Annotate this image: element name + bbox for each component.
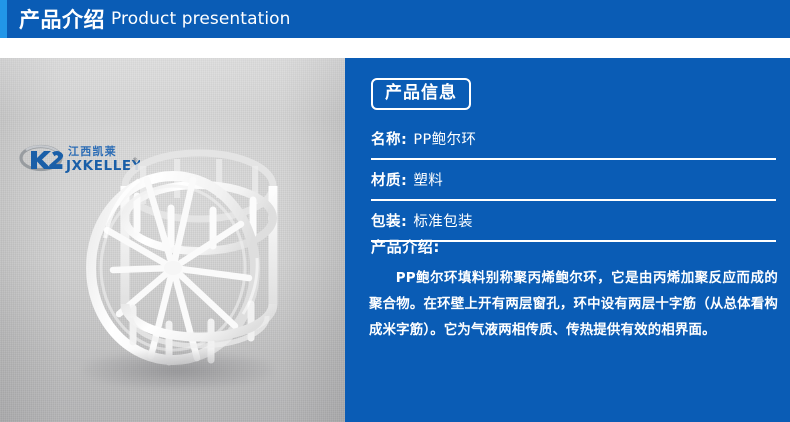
description-heading: 产品介绍: xyxy=(371,236,440,257)
section-header-title: 产品介绍 Product presentation xyxy=(19,0,291,38)
spec-row-name: 名称: PP鲍尔环 xyxy=(371,119,776,160)
section-header-bar: 产品介绍 Product presentation xyxy=(0,0,790,38)
spec-label-packaging: 包装: xyxy=(371,210,407,231)
spec-label-material: 材质: xyxy=(371,169,407,190)
section-title-en: Product presentation xyxy=(111,9,291,29)
spec-row-material: 材质: 塑料 xyxy=(371,160,776,201)
content-area: 江西凯莱 JXKELLEY ® xyxy=(0,58,790,422)
product-info-badge: 产品信息 xyxy=(371,78,471,110)
product-info-panel: 产品信息 名称: PP鲍尔环 材质: 塑料 包装: 标准包装 产品介绍: PP鲍… xyxy=(345,58,790,422)
product-photo-panel: 江西凯莱 JXKELLEY ® xyxy=(0,58,345,422)
spec-value-material: 塑料 xyxy=(413,169,443,190)
product-drop-shadow xyxy=(83,350,273,390)
spec-value-packaging: 标准包装 xyxy=(413,210,473,231)
product-presentation-page: 产品介绍 Product presentation xyxy=(0,0,790,422)
section-title-cn: 产品介绍 xyxy=(19,4,105,34)
spec-label-name: 名称: xyxy=(371,128,407,149)
product-image-pall-ring xyxy=(47,118,299,394)
spec-value-name: PP鲍尔环 xyxy=(413,128,476,149)
product-spec-list: 名称: PP鲍尔环 材质: 塑料 包装: 标准包装 xyxy=(371,119,776,242)
description-body: PP鲍尔环填料别称聚丙烯鲍尔环，它是由丙烯加聚反应而成的聚合物。在环壁上开有两层… xyxy=(369,266,778,344)
header-accent-stripe xyxy=(0,0,7,38)
